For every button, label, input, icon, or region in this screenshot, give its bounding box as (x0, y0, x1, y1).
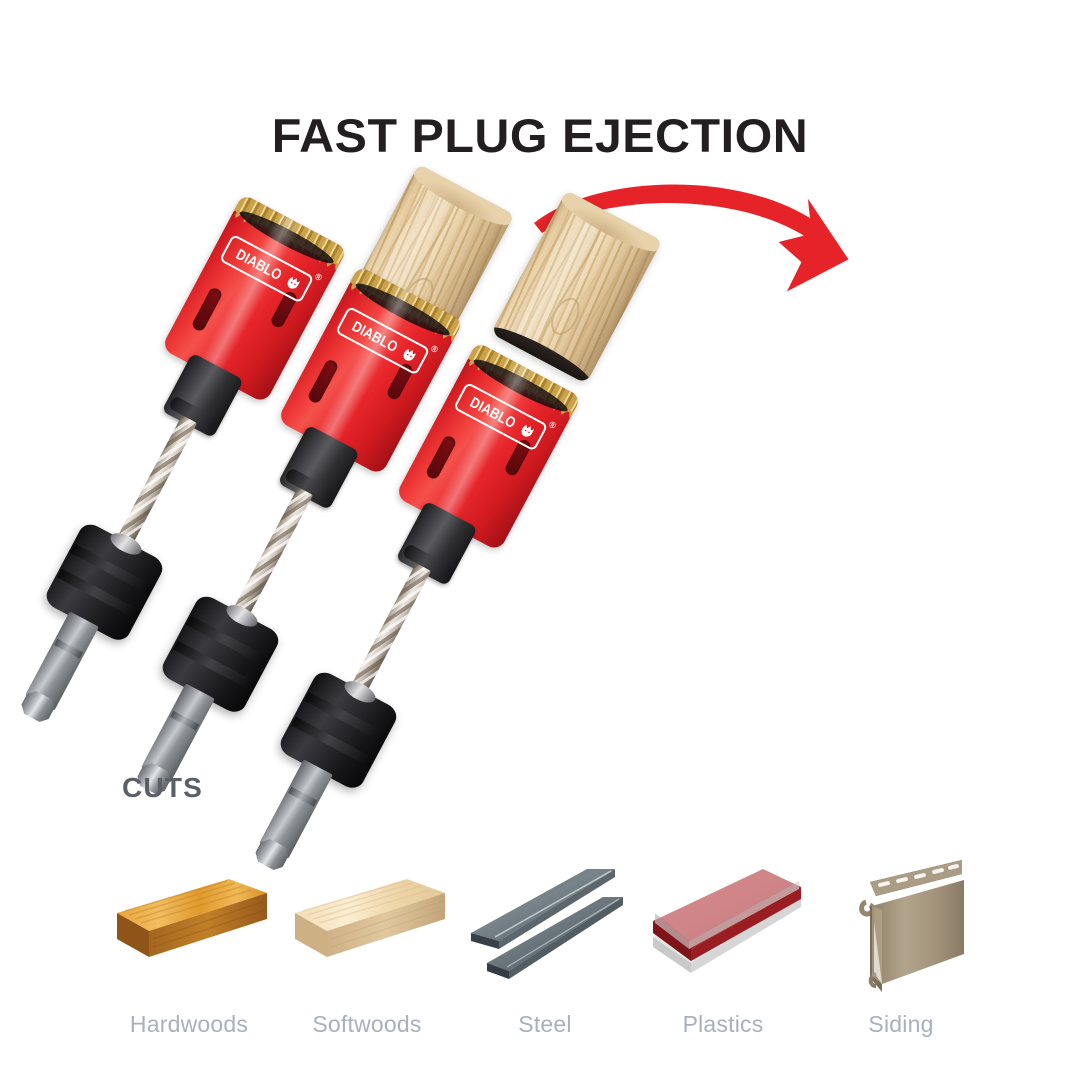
registered-mark-1: ® (313, 271, 324, 283)
hardwood-board-icon (109, 865, 269, 985)
material-label-hardwoods: Hardwoods (130, 1011, 248, 1038)
material-label-plastics: Plastics (683, 1011, 764, 1038)
material-item-steel: Steel (456, 861, 634, 1038)
devil-head-icon-1 (284, 273, 304, 293)
material-item-plastics: Plastics (634, 861, 812, 1038)
material-label-siding: Siding (868, 1011, 933, 1038)
softwood-board-icon (287, 865, 447, 985)
material-label-softwoods: Softwoods (312, 1011, 421, 1038)
cuts-heading: CUTS (122, 772, 203, 804)
product-graphic: FAST PLUG EJECTION (0, 0, 1080, 1080)
steel-sheet-icon (465, 863, 625, 988)
material-item-hardwoods: Hardwoods (100, 861, 278, 1038)
devil-head-icon-3 (518, 421, 538, 441)
material-item-siding: Siding (812, 861, 990, 1038)
material-item-softwoods: Softwoods (278, 861, 456, 1038)
devil-head-icon-2 (400, 345, 420, 365)
registered-mark-3: ® (547, 419, 558, 431)
materials-row: Hardwoods (100, 828, 990, 1038)
vinyl-siding-icon (836, 858, 966, 993)
hero-illustration: DIABLO ® (0, 170, 1080, 760)
registered-mark-2: ® (429, 343, 440, 355)
material-label-steel: Steel (518, 1011, 571, 1038)
hex-shank-1 (17, 611, 99, 725)
page-title: FAST PLUG EJECTION (0, 108, 1080, 163)
plastic-sheets-icon (643, 863, 803, 988)
